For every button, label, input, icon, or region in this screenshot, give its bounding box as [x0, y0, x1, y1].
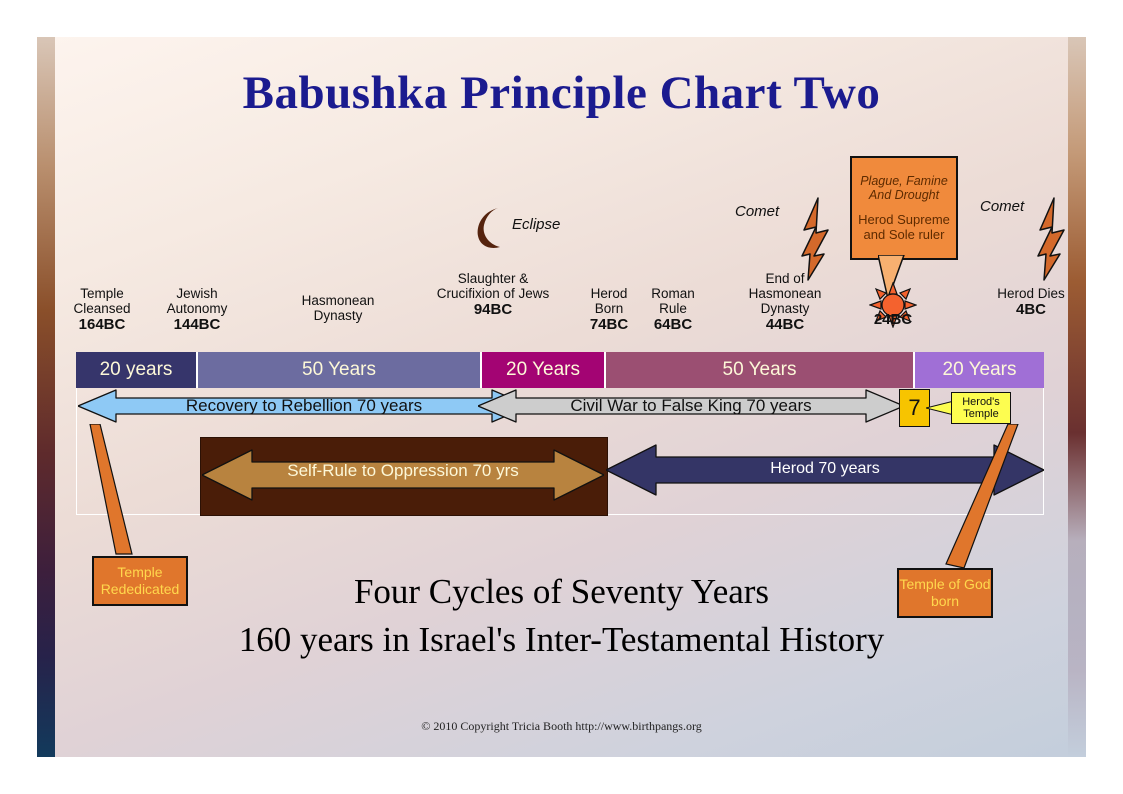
arrow-recovery-label: Recovery to Rebellion 70 years — [78, 396, 530, 416]
arrow-self-rule-label: Self-Rule to Oppression 70 yrs — [202, 461, 604, 481]
timeline-segment: 20 Years — [482, 352, 606, 388]
event-name: Roman Rule — [651, 286, 695, 316]
event-label-herod-born: Herod Born 74BC — [576, 286, 642, 332]
chart-page: Babushka Principle Chart Two Eclipse Com… — [0, 0, 1123, 794]
event-label-temple-cleansed: Temple Cleansed 164BC — [60, 286, 144, 332]
event-label-hasmonean-dynasty: Hasmonean Dynasty — [277, 293, 399, 323]
timeline-segment-label: 20 years — [100, 359, 173, 381]
pointer-temple-rededicated — [86, 424, 156, 558]
event-label-slaughter-crucifixion: Slaughter & Crucifixion of Jews 94BC — [434, 271, 552, 317]
event-year: 94BC — [434, 302, 552, 317]
callout-plague-famine: Plague, Famine And Drought Herod Supreme… — [850, 156, 958, 260]
timeline-segment: 20 Years — [915, 352, 1044, 388]
timeline-segment: 50 Years — [606, 352, 915, 388]
event-name: Hasmonean Dynasty — [302, 293, 375, 323]
event-year: 144BC — [152, 317, 242, 332]
event-year: 24BC — [855, 312, 931, 327]
timeline-segment: 50 Years — [198, 352, 482, 388]
event-label-24bc: 24BC — [855, 311, 931, 327]
callout-herods-temple: Herod's Temple — [951, 392, 1011, 424]
copyright-line: © 2010 Copyright Tricia Booth http://www… — [0, 719, 1123, 734]
timeline-segment: 20 years — [76, 352, 198, 388]
event-name: Temple Cleansed — [73, 286, 130, 316]
event-label-roman-rule: Roman Rule 64BC — [640, 286, 706, 332]
eclipse-moon-icon — [472, 206, 506, 250]
caption-line-2: 160 years in Israel's Inter-Testamental … — [0, 620, 1123, 660]
event-name: Jewish Autonomy — [167, 286, 228, 316]
event-label-jewish-autonomy: Jewish Autonomy 144BC — [152, 286, 242, 332]
timeline-segment-label: 50 Years — [723, 359, 797, 381]
event-year: 44BC — [735, 317, 835, 332]
event-year: 164BC — [60, 317, 144, 332]
event-label-end-hasmonean: End of Hasmonean Dynasty 44BC — [735, 271, 835, 332]
event-name: Herod Dies — [997, 286, 1065, 301]
caption-line-1: Four Cycles of Seventy Years — [0, 572, 1123, 612]
event-year: 74BC — [576, 317, 642, 332]
timeline-segment-label: 20 Years — [506, 359, 580, 381]
callout-plague-italic: Plague, Famine And Drought — [852, 174, 956, 202]
comet-right-label: Comet — [980, 198, 1024, 215]
event-name: Herod Born — [591, 286, 628, 316]
event-name: End of Hasmonean Dynasty — [749, 271, 822, 316]
event-name: Slaughter & Crucifixion of Jews — [437, 271, 550, 301]
pointer-temple-of-god-born — [940, 424, 1020, 572]
event-year: 64BC — [640, 317, 706, 332]
arrow-civil-war-label: Civil War to False King 70 years — [478, 396, 904, 416]
page-title: Babushka Principle Chart Two — [0, 66, 1123, 120]
comet-left-label: Comet — [735, 203, 779, 220]
timeline-segment-label: 50 Years — [302, 359, 376, 381]
event-year: 4BC — [993, 302, 1069, 317]
timeline-segment-label: 20 Years — [943, 359, 1017, 381]
callout-plague-regular: Herod Supreme and Sole ruler — [852, 212, 956, 242]
timeline-bar: 20 years50 Years20 Years50 Years20 Years — [76, 352, 1044, 388]
eclipse-label: Eclipse — [512, 216, 560, 233]
event-label-herod-dies: Herod Dies 4BC — [993, 286, 1069, 317]
comet-right-icon — [1030, 196, 1074, 286]
